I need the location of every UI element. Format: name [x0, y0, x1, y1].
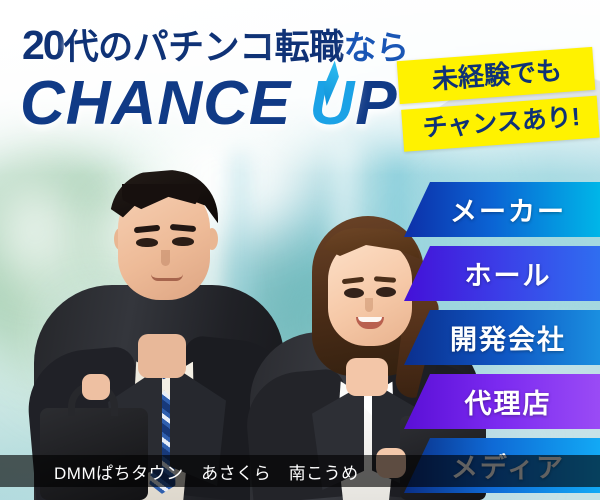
logo-part-one: CHANCE — [20, 69, 309, 138]
category-ribbon-developer[interactable]: 開発会社 — [404, 310, 600, 365]
headline-text: 20代のパチンコ転職なら — [22, 18, 409, 70]
category-ribbon-agency[interactable]: 代理店 — [404, 374, 600, 429]
no-experience-badge: 未経験でも チャンスあり! — [398, 54, 594, 139]
chance-up-banner: 20代のパチンコ転職なら CHANCE UP 未経験でも チャンスあり! メーカ… — [0, 0, 600, 500]
headline-keyword: パチンコ — [133, 26, 275, 67]
headline-age: 20 — [22, 22, 64, 68]
category-ribbon-maker[interactable]: メーカー — [404, 182, 600, 237]
category-label: メーカー — [438, 190, 566, 229]
category-label: 代理店 — [453, 382, 552, 421]
headline-topic: 転職 — [275, 28, 344, 67]
category-label: ホール — [453, 254, 552, 293]
logo-accent-letter-u: U — [309, 68, 355, 139]
credit-strip: DMMぱちタウン あさくら 南こうめ — [0, 455, 600, 487]
category-ribbon-hall[interactable]: ホール — [404, 246, 600, 301]
badge-line-1: 未経験でも — [397, 47, 596, 104]
credit-text: DMMぱちタウン あさくら 南こうめ — [0, 459, 359, 484]
chance-up-logo: CHANCE UP — [20, 68, 398, 139]
logo-part-two: P — [355, 69, 397, 138]
category-ribbon-list: メーカー ホール 開発会社 代理店 メディア — [0, 182, 600, 500]
category-label: 開発会社 — [438, 318, 566, 357]
headline-age-suffix: 代の — [64, 28, 133, 67]
